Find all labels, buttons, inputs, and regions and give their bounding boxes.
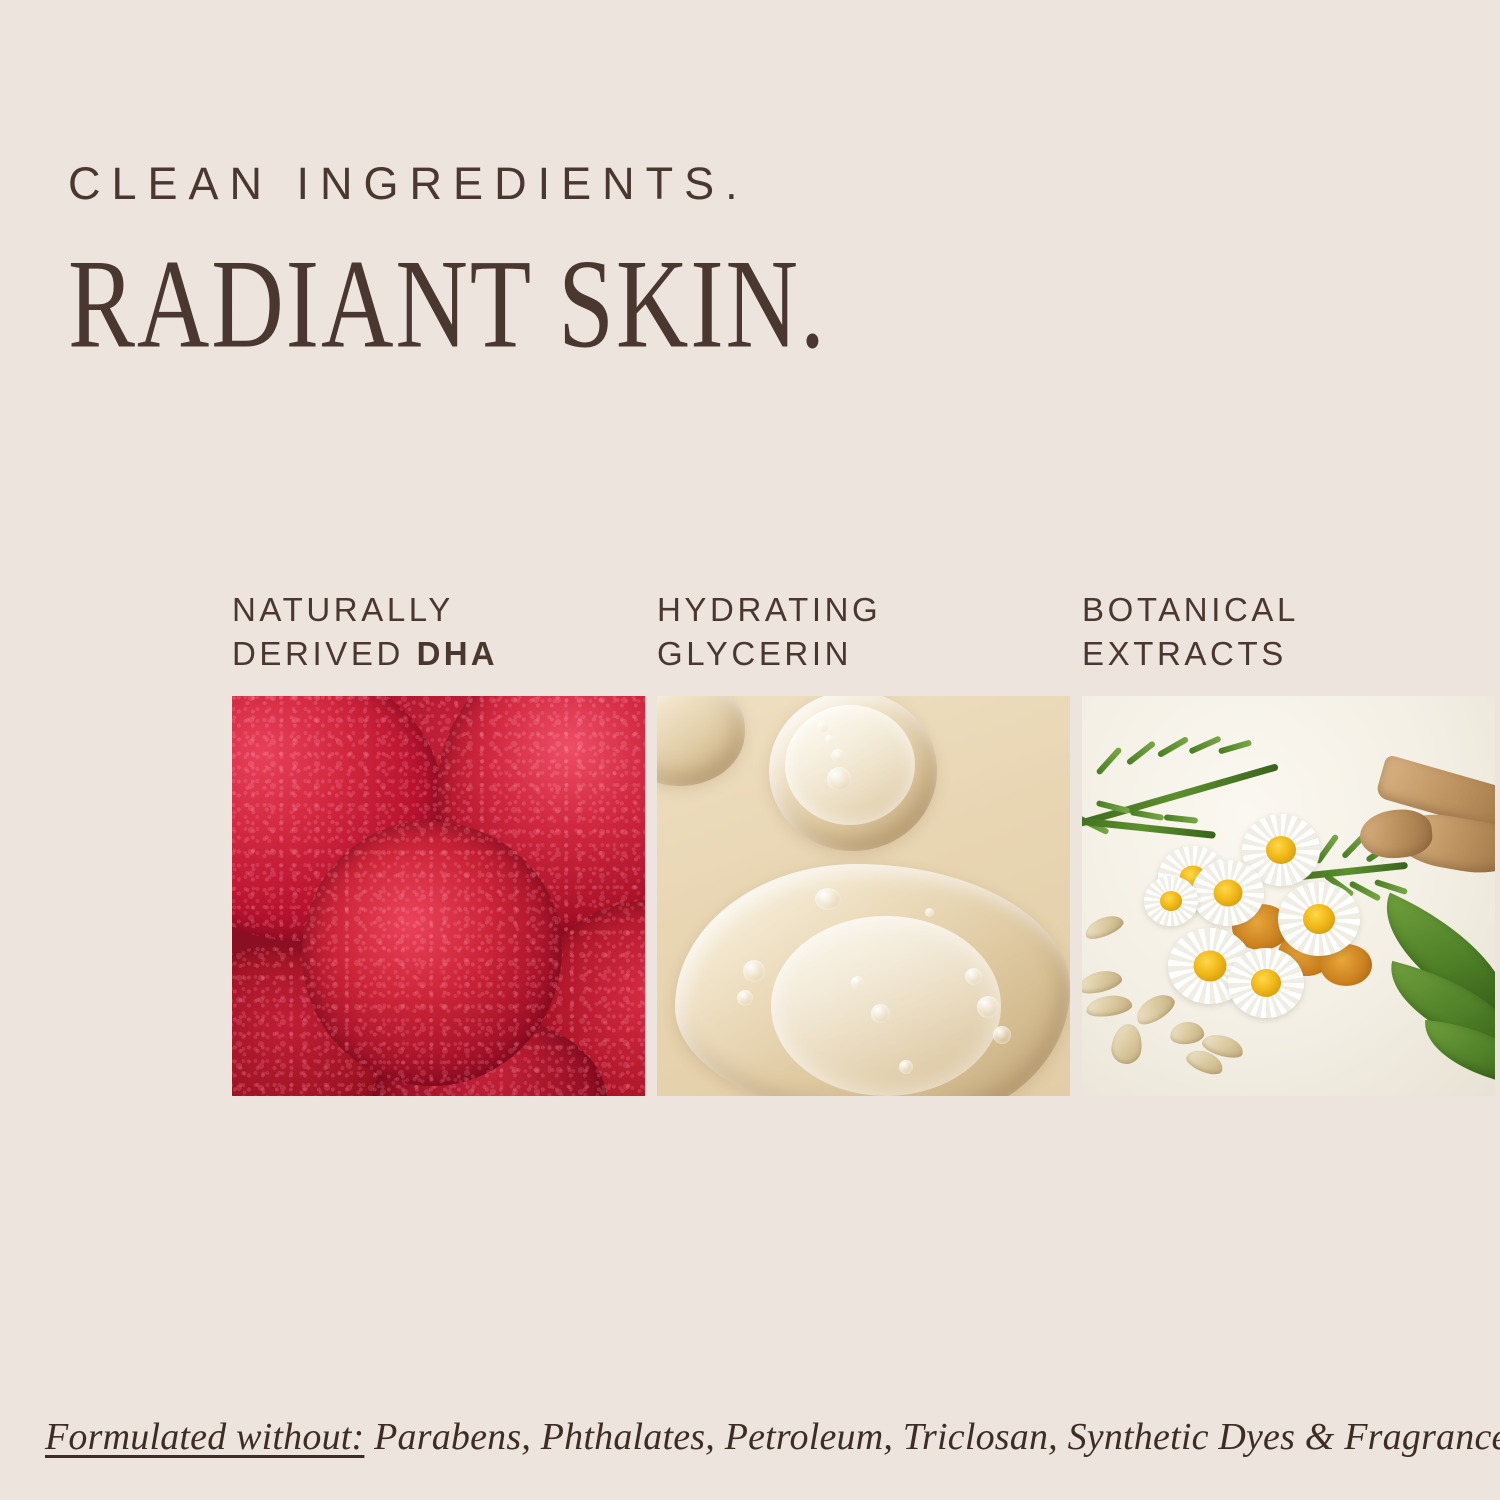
- marketing-infographic: CLEAN INGREDIENTS. RADIANT SKIN. NATURAL…: [0, 0, 1500, 1500]
- rosemary-needle: [1164, 814, 1198, 824]
- gel-bubble: [993, 1026, 1011, 1044]
- gel-bubble: [871, 1004, 890, 1023]
- gel-bubble: [925, 908, 934, 917]
- gel-droplet: [769, 696, 937, 851]
- eyebrow-text: CLEAN INGREDIENTS.: [68, 160, 1408, 207]
- flower-center: [1266, 836, 1296, 864]
- ingredient-label-glycerin: HYDRATING GLYCERIN: [657, 588, 1070, 678]
- cardamom-seed: [1082, 967, 1124, 997]
- chamomile-flower: [1228, 948, 1304, 1018]
- image-botanical-extracts: [1082, 696, 1495, 1096]
- rosemary-needle: [1130, 809, 1165, 821]
- footer-list: Parabens, Phthalates, Petroleum, Triclos…: [364, 1416, 1500, 1458]
- gel-droplet: [657, 696, 745, 786]
- rosemary-needle: [1157, 736, 1189, 758]
- label-line-1: BOTANICAL: [1082, 591, 1299, 628]
- gel-bubble: [815, 888, 841, 910]
- gel-bubble: [977, 996, 999, 1018]
- chamomile-flower: [1144, 876, 1198, 926]
- footer-lead: Formulated without:: [45, 1416, 364, 1458]
- ingredient-column-glycerin: HYDRATING GLYCERIN: [657, 588, 1070, 1096]
- gel-bubble: [825, 735, 833, 743]
- flower-center: [1214, 880, 1243, 907]
- rosemary-needle: [1218, 739, 1252, 754]
- ingredient-label-botanical: BOTANICAL EXTRACTS: [1082, 588, 1495, 678]
- flower-center: [1194, 951, 1227, 982]
- gel-bubble: [831, 749, 845, 763]
- cardamom-seed: [1082, 911, 1126, 943]
- image-sliced-beets: [232, 696, 645, 1096]
- gel-bubble: [743, 960, 765, 982]
- gel-bubble: [827, 767, 851, 791]
- formulated-without-footer: Formulated without: Parabens, Phthalates…: [45, 1415, 1465, 1459]
- gel-bubble: [965, 968, 982, 985]
- cardamom-seed: [1169, 1020, 1205, 1045]
- gel-droplet: [675, 864, 1070, 1096]
- label-line-2: EXTRACTS: [1082, 635, 1287, 672]
- page-title: RADIANT SKIN.: [68, 242, 1314, 369]
- ingredient-label-dha: NATURALLY DERIVED DHA: [232, 588, 645, 678]
- ingredient-column-dha: NATURALLY DERIVED DHA: [232, 588, 645, 1096]
- gel-bubble: [737, 990, 753, 1006]
- flower-center: [1160, 891, 1182, 911]
- rosemary-needle: [1126, 740, 1156, 766]
- ingredient-column-botanical: BOTANICAL EXTRACTS: [1082, 588, 1495, 1096]
- rosemary-needle: [1188, 735, 1222, 754]
- cardamom-seed: [1109, 1022, 1144, 1066]
- headline-block: CLEAN INGREDIENTS. RADIANT SKIN.: [68, 160, 1408, 359]
- image-glycerin-gel: [657, 696, 1070, 1096]
- ingredient-columns: NATURALLY DERIVED DHA HYDRATING GLYCERIN: [232, 588, 1470, 1096]
- label-emphasis: DHA: [417, 635, 498, 672]
- gel-bubble: [851, 976, 864, 989]
- gel-bubble: [899, 1060, 913, 1074]
- label-line-1: NATURALLY: [232, 591, 454, 628]
- chamomile-flower: [1192, 860, 1264, 926]
- label-line-1: HYDRATING: [657, 591, 881, 628]
- rosemary-needle: [1095, 746, 1122, 775]
- gel-bubble: [817, 721, 828, 732]
- flower-center: [1303, 904, 1335, 934]
- label-line-2: DERIVED: [232, 635, 417, 672]
- flower-center: [1251, 969, 1281, 997]
- chamomile-flower: [1278, 882, 1360, 956]
- beet-slice: [302, 821, 562, 1086]
- cardamom-seed: [1085, 993, 1133, 1019]
- label-line-2: GLYCERIN: [657, 635, 852, 672]
